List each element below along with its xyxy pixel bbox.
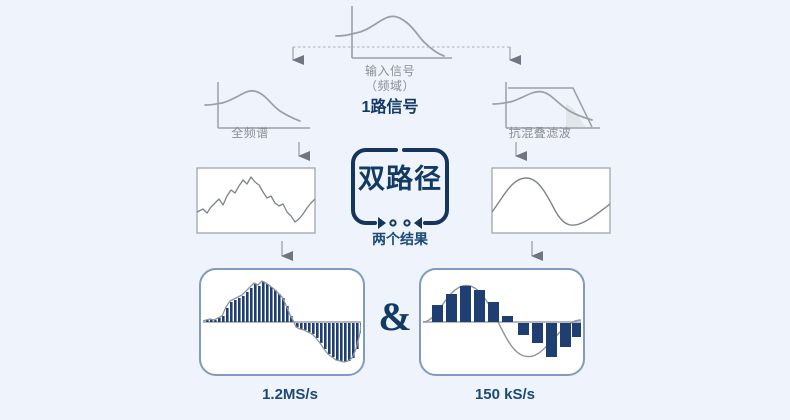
- input-spectrum-chart: [336, 6, 452, 58]
- two-results-label: 两个结果: [345, 231, 455, 249]
- noise-waveform-chart: [197, 168, 315, 233]
- diagram-graphics: [0, 0, 790, 420]
- high-rate-sampling-panel: [200, 269, 364, 375]
- input-signal-label-line1: 输入信号: [320, 64, 460, 79]
- input-signal-label-line2: （频域）: [320, 79, 460, 94]
- ampersand-separator: &: [370, 293, 420, 340]
- antialias-filter-label: 抗混叠滤波: [470, 126, 610, 141]
- one-channel-label: 1路信号: [320, 98, 460, 118]
- antialias-filter-chart: [493, 82, 600, 128]
- low-rate-sampling-panel: [420, 269, 584, 375]
- input-signal-label: 输入信号 （频域）: [320, 64, 460, 94]
- low-rate-label: 150 kS/s: [430, 386, 580, 405]
- high-rate-label: 1.2MS/s: [215, 386, 365, 405]
- full-spectrum-label: 全频谱: [190, 126, 310, 141]
- diagram-canvas: 输入信号 （频域） 1路信号 全频谱 抗混叠滤波 双路径 两个结果 & 1.2M…: [0, 0, 790, 420]
- dual-path-title: 双路径: [345, 163, 455, 197]
- sine-waveform-chart: [492, 168, 610, 233]
- full-spectrum-chart: [205, 82, 310, 128]
